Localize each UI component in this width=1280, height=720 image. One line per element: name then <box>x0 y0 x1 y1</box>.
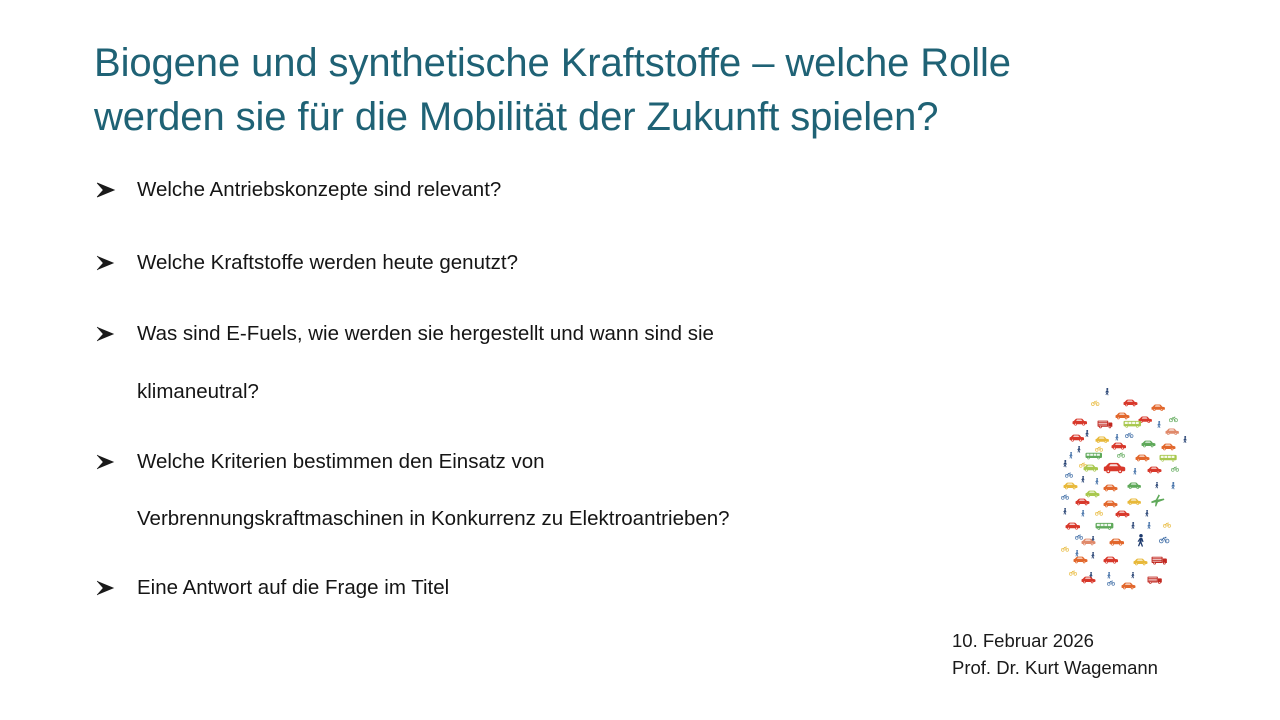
byline: 10. Februar 2026 Prof. Dr. Kurt Wagemann <box>952 628 1158 682</box>
slide-title: Biogene und synthetische Kraftstoffe – w… <box>94 36 1124 145</box>
list-item: Was sind E-Fuels, wie werden sie hergest… <box>96 320 936 405</box>
list-item-label: Welche Kriterien bestimmen den Einsatz v… <box>137 448 936 533</box>
slide-title-line-1: Biogene und synthetische Kraftstoffe – w… <box>94 41 1011 85</box>
list-item-label: Was sind E-Fuels, wie werden sie hergest… <box>137 320 936 405</box>
list-item-text: Welche Kraftstoffe werden heute genutzt? <box>137 251 518 274</box>
spacer <box>96 276 936 320</box>
list-item-text: Was sind E-Fuels, wie werden sie hergest… <box>137 322 714 345</box>
list-item: Welche Antriebskonzepte sind relevant? <box>96 176 936 204</box>
spacer <box>96 533 936 574</box>
arrowhead-bullet-icon <box>96 176 122 198</box>
list-item: Welche Kraftstoffe werden heute genutzt? <box>96 249 936 277</box>
slide-title-line-2: werden sie für die Mobilität der Zukunft… <box>94 95 938 139</box>
list-item-text: Welche Antriebskonzepte sind relevant? <box>137 178 501 201</box>
germany-mobility-pictogram-collage-image <box>1055 386 1219 602</box>
bullet-list: Welche Antriebskonzepte sind relevant? W… <box>96 176 936 602</box>
presentation-slide: Biogene und synthetische Kraftstoffe – w… <box>0 0 1280 720</box>
spacer <box>96 204 936 249</box>
list-item-text-continuation: Verbrennungskraftmaschinen in Konkurrenz… <box>137 505 936 533</box>
list-item: Welche Kriterien bestimmen den Einsatz v… <box>96 448 936 533</box>
byline-date: 10. Februar 2026 <box>952 628 1158 655</box>
byline-speaker: Prof. Dr. Kurt Wagemann <box>952 655 1158 682</box>
arrowhead-bullet-icon <box>96 249 122 271</box>
list-item-text-continuation: klimaneutral? <box>137 378 936 406</box>
list-item: Eine Antwort auf die Frage im Titel <box>96 574 936 602</box>
arrowhead-bullet-icon <box>96 574 122 596</box>
spacer <box>96 406 936 448</box>
list-item-text: Eine Antwort auf die Frage im Titel <box>137 576 449 599</box>
list-item-label: Eine Antwort auf die Frage im Titel <box>137 574 936 602</box>
list-item-text: Welche Kriterien bestimmen den Einsatz v… <box>137 450 545 473</box>
arrowhead-bullet-icon <box>96 448 122 470</box>
list-item-label: Welche Kraftstoffe werden heute genutzt? <box>137 249 936 277</box>
list-item-label: Welche Antriebskonzepte sind relevant? <box>137 176 936 204</box>
arrowhead-bullet-icon <box>96 320 122 342</box>
